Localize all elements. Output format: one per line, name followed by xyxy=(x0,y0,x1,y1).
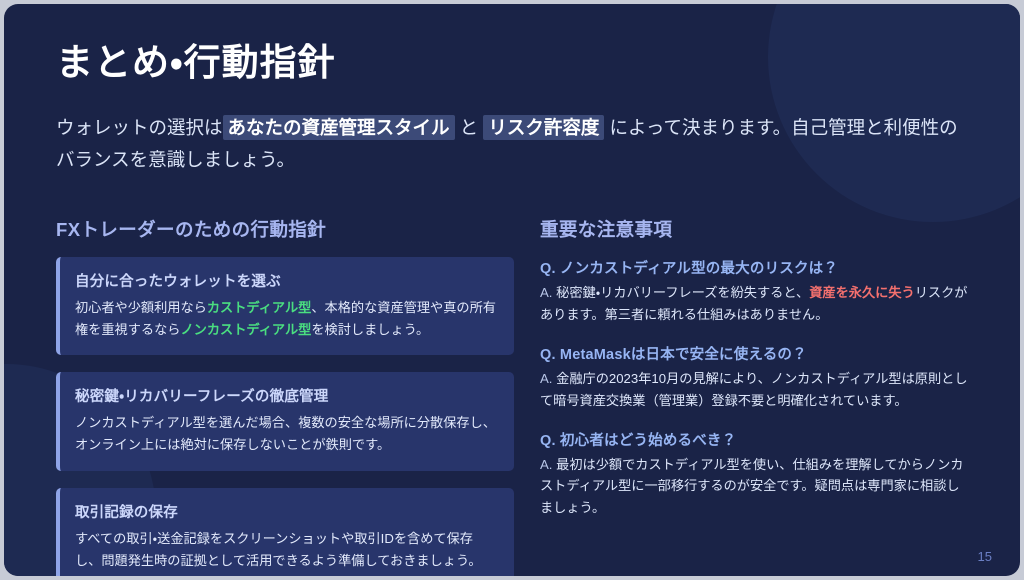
faq-answer-2-label: A. xyxy=(540,371,552,386)
action-card-1-emphasis-2: ノンカストディアル型 xyxy=(181,322,312,337)
page-title: まとめ・行動指針 xyxy=(56,4,968,86)
action-card-1-body: 初心者や少額利用ならカストディアル型、本格的な資産管理や真の所有権を重視するなら… xyxy=(75,297,498,341)
lead-text-part-2: と xyxy=(460,117,479,138)
slide-content: まとめ・行動指針 ウォレットの選択はあなたの資産管理スタイル と リスク許容度 … xyxy=(4,4,1020,576)
faq-answer-1-emphasis: 資産を永久に失う xyxy=(809,285,915,300)
action-card-1: 自分に合ったウォレットを選ぶ 初心者や少額利用ならカストディアル型、本格的な資産… xyxy=(56,257,514,355)
faq-question-1: Q. ノンカストディアル型の最大のリスクは？ xyxy=(540,257,968,278)
faq-question-2: Q. MetaMaskは日本で安全に使えるの？ xyxy=(540,343,968,364)
faq-item-3: Q. 初心者はどう始めるべき？ A. 最初は少額でカストディアル型を使い、仕組み… xyxy=(540,429,968,520)
action-card-3-text-1: すべての取引・送金記録をスクリーンショットや取引IDを含めて保存し、問題発生時の… xyxy=(75,531,482,568)
action-card-1-title: 自分に合ったウォレットを選ぶ xyxy=(75,270,498,291)
lead-highlight-2: リスク許容度 xyxy=(483,115,604,140)
faq-answer-1-text-1: 秘密鍵・リカバリーフレーズを紛失すると、 xyxy=(556,285,809,300)
faq-item-2: Q. MetaMaskは日本で安全に使えるの？ A. 金融庁の2023年10月の… xyxy=(540,343,968,412)
slide-frame: まとめ・行動指針 ウォレットの選択はあなたの資産管理スタイル と リスク許容度 … xyxy=(0,0,1024,580)
right-section-heading: 重要な注意事項 xyxy=(540,216,968,242)
lead-highlight-1: あなたの資産管理スタイル xyxy=(223,115,455,140)
faq-answer-3-text-1: 最初は少額でカストディアル型を使い、仕組みを理解してからノンカストディアル型に一… xyxy=(540,457,964,516)
faq-answer-2: A. 金融庁の2023年10月の見解により、ノンカストディアル型は原則として暗号… xyxy=(540,368,968,412)
left-section-heading: FXトレーダーのための行動指針 xyxy=(56,216,514,242)
two-column-layout: FXトレーダーのための行動指針 自分に合ったウォレットを選ぶ 初心者や少額利用な… xyxy=(56,216,968,576)
right-column: 重要な注意事項 Q. ノンカストディアル型の最大のリスクは？ A. 秘密鍵・リカ… xyxy=(528,216,968,576)
action-card-2-body: ノンカストディアル型を選んだ場合、複数の安全な場所に分散保存し、オンライン上には… xyxy=(75,412,498,456)
action-card-1-text-3: を検討しましょう。 xyxy=(311,322,429,337)
action-card-3: 取引記録の保存 すべての取引・送金記録をスクリーンショットや取引IDを含めて保存… xyxy=(56,488,514,576)
action-card-1-emphasis-1: カストディアル型 xyxy=(207,300,311,315)
left-column: FXトレーダーのための行動指針 自分に合ったウォレットを選ぶ 初心者や少額利用な… xyxy=(56,216,514,576)
lead-text-part-1: ウォレットの選択は xyxy=(56,117,223,138)
action-card-3-body: すべての取引・送金記録をスクリーンショットや取引IDを含めて保存し、問題発生時の… xyxy=(75,528,498,572)
action-card-2-title: 秘密鍵・リカバリーフレーズの徹底管理 xyxy=(75,385,498,406)
slide-canvas: まとめ・行動指針 ウォレットの選択はあなたの資産管理スタイル と リスク許容度 … xyxy=(4,4,1020,576)
action-card-2-text-1: ノンカストディアル型を選んだ場合、複数の安全な場所に分散保存し、オンライン上には… xyxy=(75,415,496,452)
faq-answer-3: A. 最初は少額でカストディアル型を使い、仕組みを理解してからノンカストディアル… xyxy=(540,454,968,520)
action-card-3-title: 取引記録の保存 xyxy=(75,501,498,522)
page-number: 15 xyxy=(978,549,992,564)
action-card-2: 秘密鍵・リカバリーフレーズの徹底管理 ノンカストディアル型を選んだ場合、複数の安… xyxy=(56,372,514,470)
faq-answer-3-label: A. xyxy=(540,457,552,472)
faq-answer-1-label: A. xyxy=(540,285,552,300)
faq-answer-1: A. 秘密鍵・リカバリーフレーズを紛失すると、資産を永久に失うリスクがあります。… xyxy=(540,282,968,326)
faq-question-3: Q. 初心者はどう始めるべき？ xyxy=(540,429,968,450)
faq-item-1: Q. ノンカストディアル型の最大のリスクは？ A. 秘密鍵・リカバリーフレーズを… xyxy=(540,257,968,326)
lead-paragraph: ウォレットの選択はあなたの資産管理スタイル と リスク許容度 によって決まります… xyxy=(56,112,968,176)
faq-answer-2-text-1: 金融庁の2023年10月の見解により、ノンカストディアル型は原則として暗号資産交… xyxy=(540,371,968,408)
action-card-1-text-1: 初心者や少額利用なら xyxy=(75,300,207,315)
